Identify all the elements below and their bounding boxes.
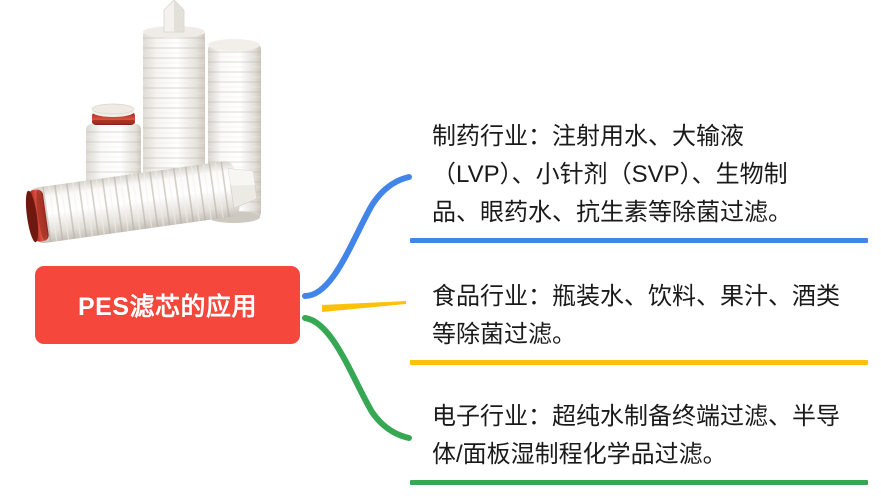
branch-food-text: 食品行业：瓶装水、饮料、果汁、酒类 等除菌过滤。: [410, 278, 870, 354]
branch-electronics-rule: [410, 480, 868, 485]
center-node-label: PES滤芯的应用: [78, 287, 257, 323]
filter-cartridges-illustration: [18, 0, 328, 258]
cartridge-tall: [143, 0, 205, 194]
pes-filter-cartridges-photo: [18, 0, 328, 258]
mindmap-slide: PES滤芯的应用 制药行业：注射用水、大输液 （LVP）、小针剂（SVP）、生物…: [0, 0, 881, 501]
branch-electronics-text: 电子行业：超纯水制备终端过滤、半导 体/面板湿制程化学品过滤。: [410, 398, 870, 474]
center-node-pes-application[interactable]: PES滤芯的应用: [35, 266, 300, 344]
branch-food-rule: [410, 360, 868, 365]
short-cartridge-oring: [92, 104, 135, 125]
branch-pharma-rule: [410, 238, 868, 243]
branch-food[interactable]: 食品行业：瓶装水、饮料、果汁、酒类 等除菌过滤。: [410, 278, 870, 365]
branch-electronics[interactable]: 电子行业：超纯水制备终端过滤、半导 体/面板湿制程化学品过滤。: [410, 398, 870, 485]
branch-pharma[interactable]: 制药行业：注射用水、大输液 （LVP）、小针剂（SVP）、生物制 品、眼药水、抗…: [410, 118, 870, 243]
branch-pharma-text: 制药行业：注射用水、大输液 （LVP）、小针剂（SVP）、生物制 品、眼药水、抗…: [410, 118, 870, 232]
connector-curve-food: [322, 301, 406, 312]
connector-curve-electronics: [305, 318, 409, 438]
